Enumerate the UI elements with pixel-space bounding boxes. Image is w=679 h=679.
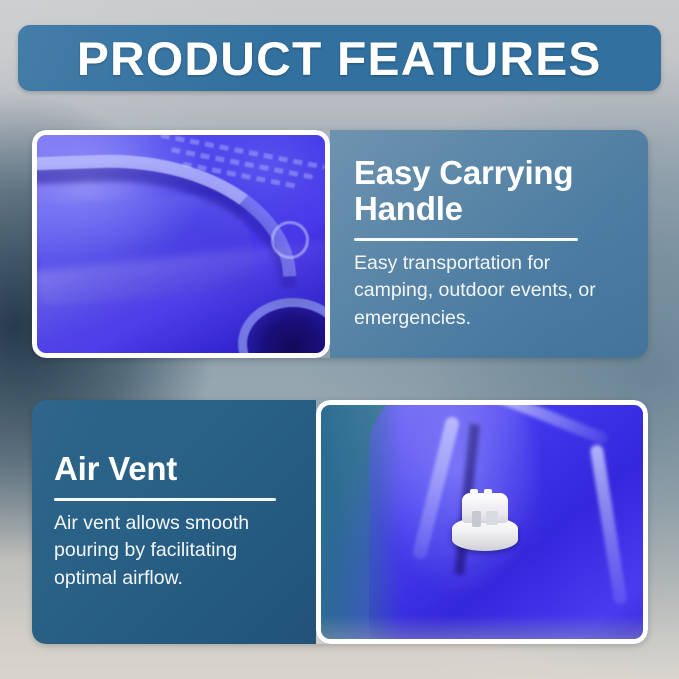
feature-card-easy-carrying-handle: Easy Carrying Handle Easy transportation…: [32, 130, 648, 358]
feature-description: Air vent allows smooth pouring by facili…: [54, 510, 298, 593]
feature-title: Air Vent: [54, 451, 298, 487]
image-bottom-fade: [316, 615, 648, 644]
product-features-banner: PRODUCT FEATURES: [18, 25, 661, 91]
feature-text-panel-vent: Air Vent Air vent allows smooth pouring …: [32, 400, 316, 644]
page-title: PRODUCT FEATURES: [77, 35, 602, 82]
title-divider: [54, 498, 276, 501]
air-vent-cap: [452, 493, 518, 551]
feature-title: Easy Carrying Handle: [354, 155, 622, 226]
feature-image-air-vent: [316, 400, 648, 644]
feature-description: Easy transportation for camping, outdoor…: [354, 250, 622, 333]
feature-card-air-vent: Air Vent Air vent allows smooth pouring …: [32, 400, 648, 644]
image-left-fade: [316, 400, 402, 644]
feature-text-panel-handle: Easy Carrying Handle Easy transportation…: [330, 130, 648, 358]
product-features-infographic: PRODUCT FEATURES Easy Carrying Handle Ea…: [0, 0, 679, 679]
title-divider: [354, 238, 578, 241]
feature-image-handle: [32, 130, 330, 358]
